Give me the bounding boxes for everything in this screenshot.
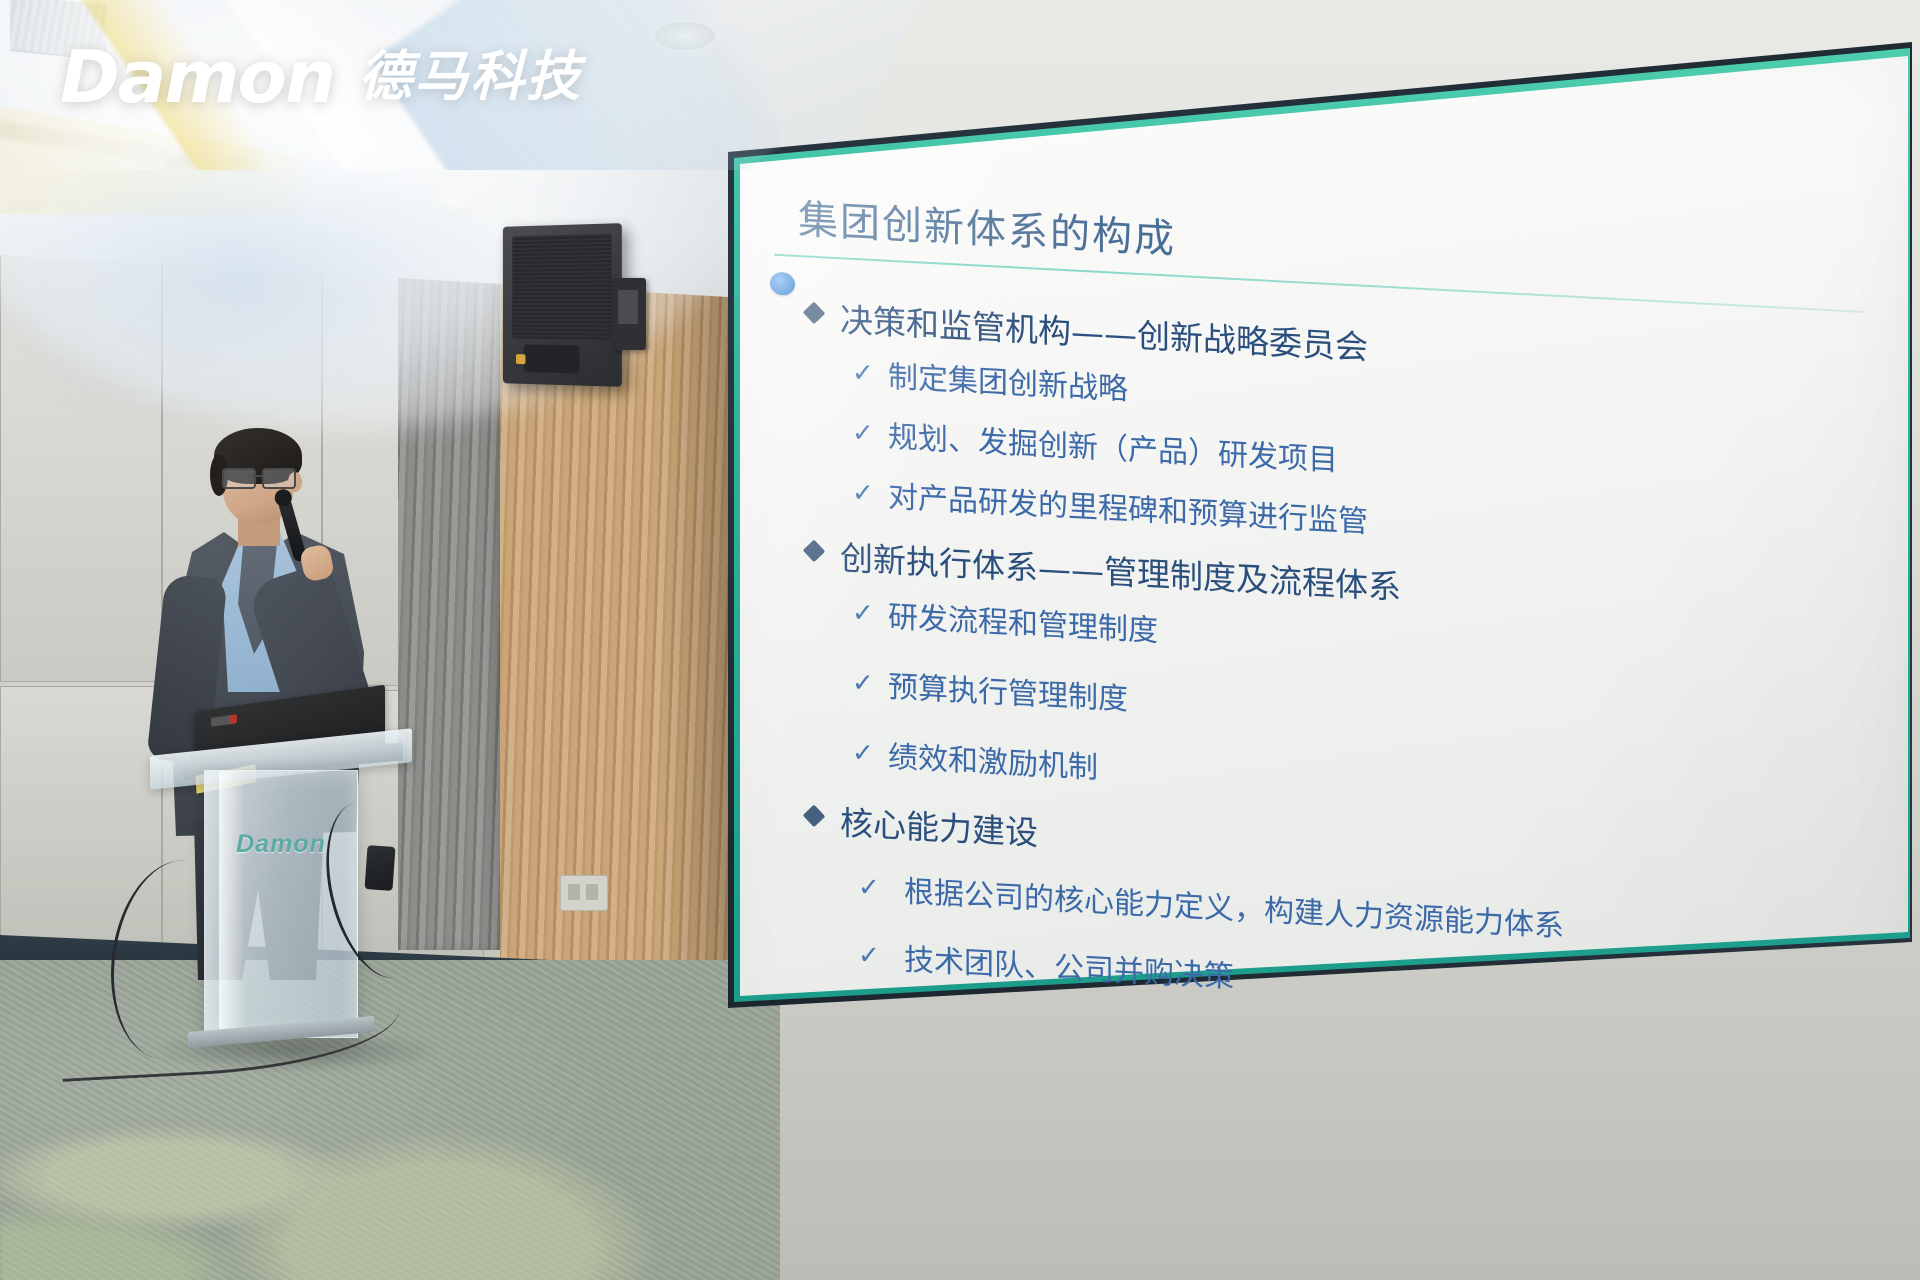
check-icon: ✓ [852,600,874,627]
ceiling-light [655,22,715,50]
check-icon: ✓ [852,420,874,447]
check-icon: ✓ [852,480,874,507]
slide-heading: 核心能力建设 [840,796,1038,854]
glasses-icon [220,468,298,486]
slide-item: 根据公司的核心能力定义，构建人力资源能力体系 [904,867,1564,946]
brand-logo-chinese: 德马科技 [358,50,582,104]
presentation-photo: 集团创新体系的构成 决策和监管机构——创新战略委员会 ✓ 制定集团创新战略 ✓ … [0,0,1920,1280]
slide-item: 制定集团创新战略 [888,352,1128,409]
check-icon: ✓ [852,740,874,767]
check-icon: ✓ [852,670,874,697]
diamond-bullet-icon [803,540,826,563]
check-icon: ✓ [852,360,874,387]
slide-item: 技术团队、公司并购决策 [904,935,1234,996]
podium-logo: Damon [226,830,336,859]
projection-screen: 集团创新体系的构成 决策和监管机构——创新战略委员会 ✓ 制定集团创新战略 ✓ … [716,42,1916,1052]
loudspeaker [503,223,622,387]
brand-watermark: Damon 德马科技 [60,34,582,120]
brand-logo-text: Damon [60,41,334,113]
slide-item: 绩效和激励机制 [888,732,1098,787]
speaker-grille [512,234,611,340]
slide-item: 研发流程和管理制度 [888,592,1158,650]
wall-outlet [560,875,608,911]
speaker-mount [612,278,646,350]
bullet-dot-icon [770,272,795,296]
slide-item: 规划、发掘创新（产品）研发项目 [888,412,1338,480]
speaker-led [516,354,525,364]
slide-item: 对产品研发的里程碑和预算进行监管 [888,472,1368,541]
check-icon: ✓ [858,942,880,969]
slide-title: 集团创新体系的构成 [798,187,1176,265]
slide-item: 预算执行管理制度 [888,662,1128,719]
diamond-bullet-icon [803,302,826,325]
speaker-horn [524,344,580,373]
diamond-bullet-icon [803,805,826,828]
check-icon: ✓ [858,874,880,901]
cable-adapter [364,845,395,891]
slide-content: 集团创新体系的构成 决策和监管机构——创新战略委员会 ✓ 制定集团创新战略 ✓ … [740,56,1908,1057]
